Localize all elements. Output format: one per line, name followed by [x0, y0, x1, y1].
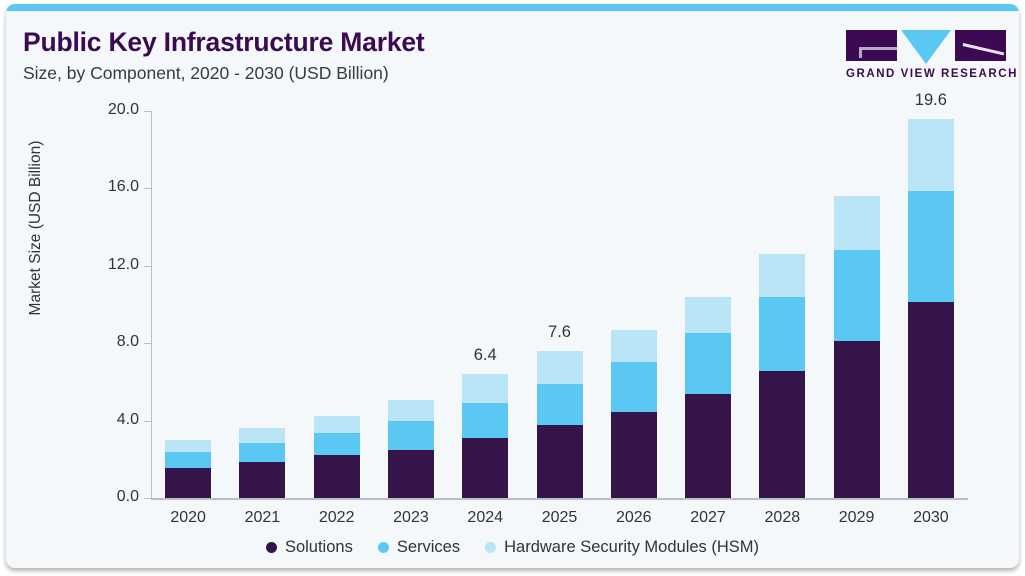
x-axis-line	[151, 498, 968, 500]
chart-legend: SolutionsServicesHardware Security Modul…	[6, 538, 1019, 557]
y-axis-tick-mark	[144, 266, 151, 267]
y-axis-tick-label: 4.0	[85, 411, 139, 429]
bar-segment-hsm[interactable]	[834, 196, 880, 250]
bar-segment-hsm[interactable]	[611, 330, 657, 362]
bar-segment-hsm[interactable]	[165, 440, 211, 452]
bar-segment-hsm[interactable]	[239, 428, 285, 443]
bar-value-label: 19.6	[881, 91, 981, 110]
bar-group[interactable]	[462, 111, 508, 498]
y-axis-tick-label: 0.0	[85, 488, 139, 506]
bar-segment-solutions[interactable]	[388, 450, 434, 498]
bar-segment-solutions[interactable]	[314, 455, 360, 498]
bar-segment-hsm[interactable]	[685, 297, 731, 333]
legend-item[interactable]: Hardware Security Modules (HSM)	[485, 538, 759, 557]
bar-group[interactable]	[611, 111, 657, 498]
y-axis-title: Market Size (USD Billion)	[27, 103, 45, 353]
bar-segment-hsm[interactable]	[908, 119, 954, 192]
bar-value-label: 7.6	[510, 323, 610, 342]
x-axis-tick-label: 2030	[881, 509, 981, 527]
bar-group[interactable]	[388, 111, 434, 498]
bar-segment-services[interactable]	[165, 452, 211, 468]
legend-item[interactable]: Services	[378, 538, 460, 557]
bar-segment-solutions[interactable]	[908, 302, 954, 498]
y-axis-tick-label: 16.0	[85, 178, 139, 196]
y-axis-tick-label: 20.0	[85, 101, 139, 119]
legend-color-swatch-icon	[266, 542, 277, 553]
bar-group[interactable]	[834, 111, 880, 498]
plot-area: Market Size (USD Billion) 0.04.08.012.01…	[6, 4, 1019, 568]
bar-segment-hsm[interactable]	[462, 374, 508, 403]
chart-card: Public Key Infrastructure Market Size, b…	[6, 4, 1019, 568]
y-axis-tick-label: 8.0	[85, 333, 139, 351]
legend-label: Hardware Security Modules (HSM)	[504, 538, 759, 557]
bar-segment-hsm[interactable]	[388, 400, 434, 420]
y-axis-tick-mark	[144, 498, 151, 499]
bar-segment-solutions[interactable]	[239, 462, 285, 498]
legend-color-swatch-icon	[485, 542, 496, 553]
y-axis-tick-mark	[144, 343, 151, 344]
bar-segment-solutions[interactable]	[685, 394, 731, 498]
bar-segment-services[interactable]	[537, 384, 583, 426]
bar-segment-hsm[interactable]	[759, 254, 805, 297]
y-axis-tick-mark	[144, 111, 151, 112]
bar-segment-solutions[interactable]	[537, 425, 583, 498]
legend-item[interactable]: Solutions	[266, 538, 353, 557]
bar-segment-services[interactable]	[462, 403, 508, 438]
y-axis-tick-mark	[144, 421, 151, 422]
bar-segment-services[interactable]	[314, 433, 360, 455]
bar-group[interactable]	[314, 111, 360, 498]
bar-group[interactable]	[165, 111, 211, 498]
legend-label: Services	[397, 538, 460, 557]
bar-value-label: 6.4	[435, 346, 535, 365]
bar-segment-solutions[interactable]	[165, 468, 211, 498]
bar-group[interactable]	[908, 111, 954, 498]
bar-group[interactable]	[239, 111, 285, 498]
legend-color-swatch-icon	[378, 542, 389, 553]
bar-segment-hsm[interactable]	[537, 351, 583, 384]
bar-group[interactable]	[685, 111, 731, 498]
y-axis-line	[151, 111, 152, 499]
bar-segment-services[interactable]	[611, 362, 657, 412]
bar-segment-services[interactable]	[759, 297, 805, 371]
y-axis-tick-label: 12.0	[85, 256, 139, 274]
bar-segment-services[interactable]	[685, 333, 731, 394]
bar-segment-services[interactable]	[908, 191, 954, 301]
bar-segment-hsm[interactable]	[314, 416, 360, 433]
bar-segment-services[interactable]	[239, 443, 285, 462]
bar-segment-solutions[interactable]	[759, 371, 805, 498]
bar-group[interactable]	[759, 111, 805, 498]
bar-segment-services[interactable]	[388, 421, 434, 450]
bar-segment-solutions[interactable]	[462, 438, 508, 498]
bar-segment-services[interactable]	[834, 250, 880, 341]
bar-segment-solutions[interactable]	[611, 412, 657, 498]
legend-label: Solutions	[285, 538, 353, 557]
bar-group[interactable]	[537, 111, 583, 498]
y-axis-tick-mark	[144, 188, 151, 189]
bar-segment-solutions[interactable]	[834, 341, 880, 498]
